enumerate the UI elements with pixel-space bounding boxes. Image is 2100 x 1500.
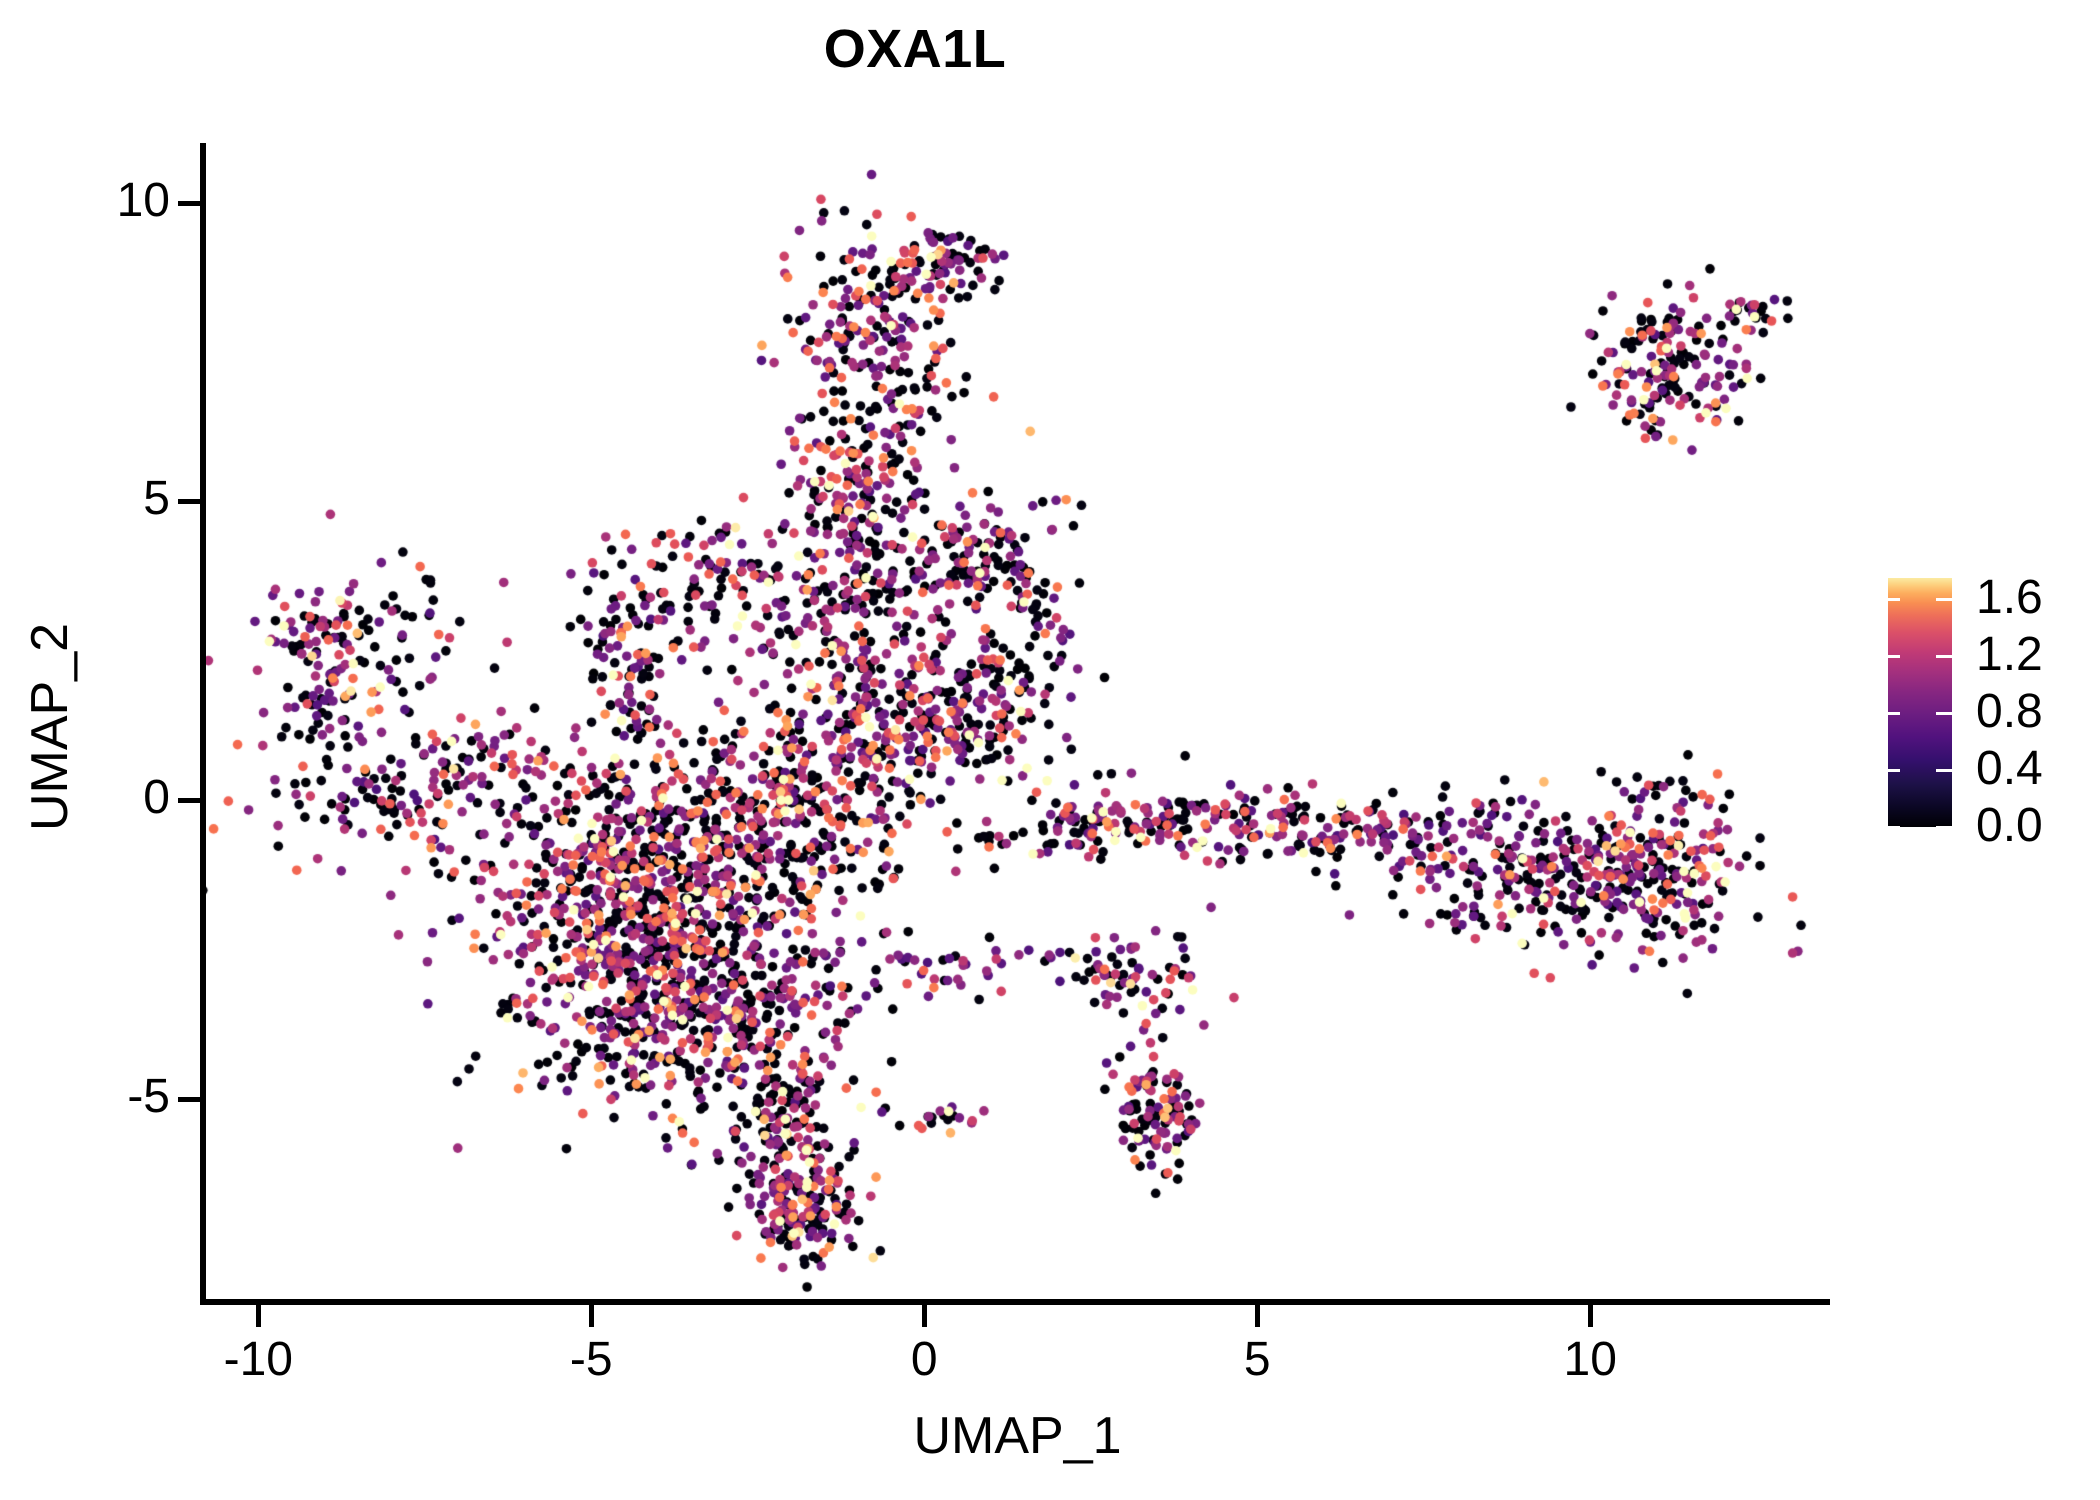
colorbar-legend: 0.00.40.81.21.6 [1888, 578, 2078, 848]
x-tick-mark [256, 1305, 261, 1327]
x-tick-mark [1255, 1305, 1260, 1327]
x-tick-label: -5 [491, 1332, 691, 1387]
x-axis-title: UMAP_1 [205, 1406, 1830, 1466]
colorbar-tick-mark [1936, 598, 1952, 601]
colorbar-tick-mark [1888, 598, 1900, 601]
x-tick-mark [922, 1305, 927, 1327]
colorbar-tick-mark [1936, 712, 1952, 715]
plot-panel [205, 143, 1830, 1302]
colorbar-tick-label: 0.0 [1976, 798, 2100, 853]
colorbar-tick-label: 1.6 [1976, 570, 2100, 625]
x-tick-label: 10 [1490, 1332, 1690, 1387]
colorbar-tick-mark [1888, 769, 1900, 772]
colorbar-tick-mark [1888, 655, 1900, 658]
x-axis-line [200, 1299, 1830, 1305]
colorbar-tick-mark [1936, 769, 1952, 772]
y-tick-mark [178, 798, 200, 803]
x-tick-mark [589, 1305, 594, 1327]
colorbar-gradient [1888, 578, 1952, 827]
x-tick-mark [1588, 1305, 1593, 1327]
figure-root: OXA1L -10-50510 1050-5 UMAP_1 UMAP_2 0.0… [0, 0, 2100, 1500]
colorbar-tick-mark [1936, 826, 1952, 829]
page-title: OXA1L [0, 18, 1830, 80]
colorbar-tick-mark [1888, 826, 1900, 829]
y-tick-mark [178, 1097, 200, 1102]
x-tick-label: 5 [1157, 1332, 1357, 1387]
y-tick-mark [178, 499, 200, 504]
colorbar-tick-mark [1936, 655, 1952, 658]
colorbar-tick-label: 1.2 [1976, 627, 2100, 682]
colorbar-tick-mark [1888, 712, 1900, 715]
colorbar-tick-label: 0.4 [1976, 741, 2100, 796]
scatter-plot-canvas [205, 143, 1830, 1302]
y-axis-line [200, 143, 206, 1305]
y-tick-mark [178, 201, 200, 206]
colorbar-tick-label: 0.8 [1976, 684, 2100, 739]
x-tick-label: 0 [824, 1332, 1024, 1387]
y-axis-title: UMAP_2 [20, 147, 80, 1307]
x-tick-label: -10 [158, 1332, 358, 1387]
